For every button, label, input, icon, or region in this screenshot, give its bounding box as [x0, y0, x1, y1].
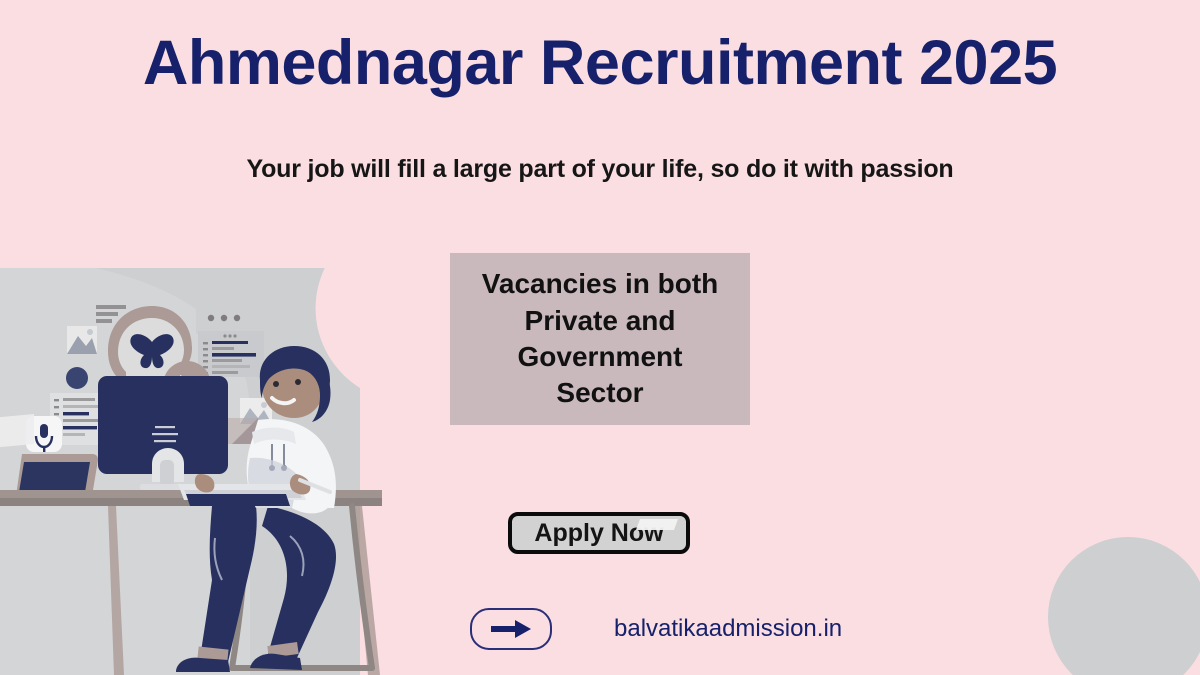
desktop-monitor: [98, 376, 228, 490]
paper-stack: [0, 414, 34, 448]
site-url: balvatikaadmission.in: [614, 615, 842, 643]
page-title: Ahmednagar Recruitment 2025: [0, 30, 1200, 96]
highlight-line-3: Government: [482, 339, 719, 375]
image-thumbnail-icon: [67, 326, 97, 354]
poster-canvas: Ahmednagar Recruitment 2025 Your job wil…: [0, 0, 1200, 675]
grey-circle-decor: [1048, 537, 1200, 675]
footer-bar: balvatikaadmission.in: [470, 608, 842, 650]
dot-decor: [66, 367, 88, 389]
highlight-panel: Vacancies in both Private and Government…: [450, 253, 750, 425]
document-card: [198, 331, 264, 377]
highlight-line-2: Private and: [482, 303, 719, 339]
highlight-panel-text: Vacancies in both Private and Government…: [474, 266, 727, 412]
apply-now-button[interactable]: Apply Now: [508, 512, 690, 554]
page-subtitle: Your job will fill a large part of your …: [0, 155, 1200, 184]
arrow-right-button[interactable]: [470, 608, 552, 650]
highlight-line-1: Vacancies in both: [482, 266, 719, 302]
arrow-right-icon: [489, 619, 533, 639]
highlight-line-4: Sector: [482, 375, 719, 411]
person-at-desk-illustration: [0, 268, 420, 675]
apply-now-label: Apply Now: [534, 519, 663, 548]
